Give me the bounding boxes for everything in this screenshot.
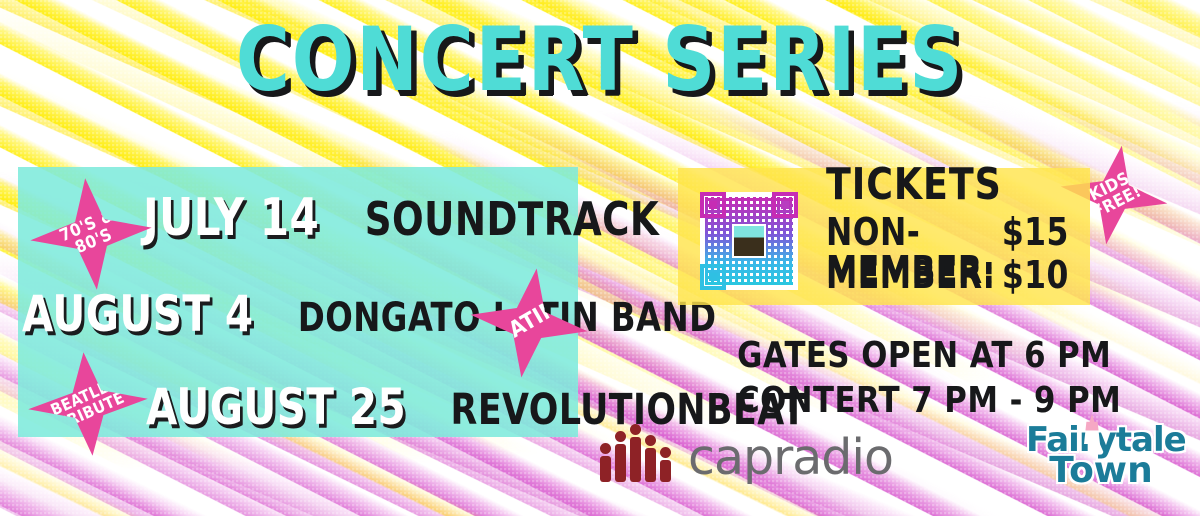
qr-finder-top-right	[772, 192, 798, 218]
concert-series-banner: CONCERT SERIES JULY 14 SOUNDTRACK AUGUST…	[0, 0, 1200, 516]
qr-code[interactable]	[700, 192, 798, 290]
lineup-row: AUGUST 25 REVOLUTIONBEAT	[146, 382, 806, 432]
lineup-date: AUGUST 25	[146, 378, 406, 436]
concert-time-text: CONTERT 7 PM - 9 PM	[737, 383, 1083, 419]
page-title: CONCERT SERIES	[42, 16, 1158, 104]
qr-finder-bottom-left	[700, 264, 726, 290]
lineup-row: JULY 14 SOUNDTRACK	[143, 192, 659, 244]
ticket-price: $10	[1002, 256, 1069, 294]
qr-center-logo	[732, 224, 766, 258]
tickets-heading: TICKETS	[826, 163, 1002, 207]
lineup-date: AUGUST 4	[22, 285, 254, 343]
lineup-date: JULY 14	[143, 188, 319, 248]
qr-finder-top-left	[700, 192, 726, 218]
gates-open-text: GATES OPEN AT 6 PM	[737, 338, 1083, 374]
capradio-wordmark: capradio	[688, 433, 893, 482]
lineup-row: AUGUST 4 DONGATO LATIN BAND	[22, 289, 716, 339]
lineup-band-name: SOUNDTRACK	[365, 192, 659, 246]
capradio-people-icon	[600, 432, 674, 482]
ticket-tier-label: MEMBER:	[826, 256, 996, 294]
capradio-logo: capradio	[600, 432, 893, 482]
ticket-price-row: MEMBER: $10	[826, 256, 1069, 294]
fairytale-town-logo: Fairytale Town	[1026, 424, 1176, 506]
event-times: GATES OPEN AT 6 PM CONTERT 7 PM - 9 PM	[728, 338, 1092, 419]
